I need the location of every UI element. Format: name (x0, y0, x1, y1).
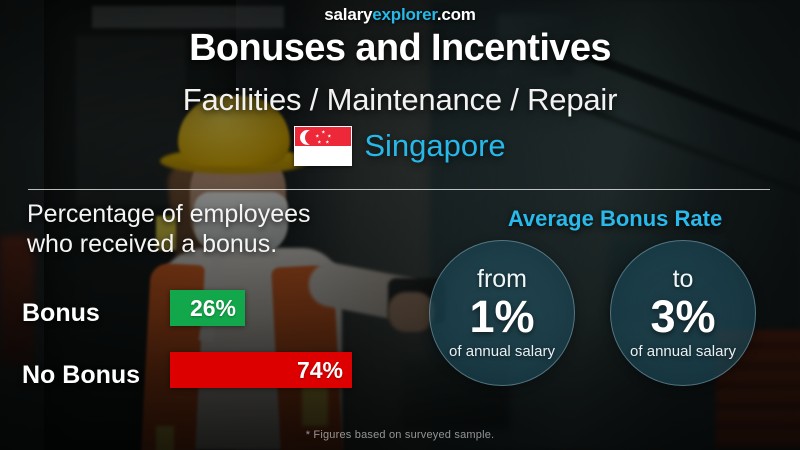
flag-crescent-icon (300, 130, 315, 145)
logo-text-com: .com (437, 5, 476, 24)
bonus-rate-to-circle: to 3% of annual salary (610, 240, 756, 386)
header-divider (28, 189, 770, 190)
logo-text-salary: salary (324, 5, 372, 24)
bar-value-no-bonus: 74% (297, 357, 343, 384)
page-title: Bonuses and Incentives (0, 27, 800, 70)
average-bonus-rate-title: Average Bonus Rate (455, 206, 775, 232)
logo-text-explorer: explorer (372, 5, 437, 24)
bonus-bar-chart: Bonus 26% No Bonus 74% (0, 285, 420, 409)
bonus-rate-to-value: 3% (650, 294, 715, 340)
footnote: * Figures based on surveyed sample. (0, 429, 800, 441)
bar-row-bonus: Bonus 26% (0, 285, 420, 347)
site-logo[interactable]: salaryexplorer.com (0, 5, 800, 25)
singapore-flag-icon (294, 126, 352, 166)
country-row: Singapore (0, 126, 800, 166)
bar-bonus: 26% (170, 290, 245, 326)
bonus-rate-from-circle: from 1% of annual salary (429, 240, 575, 386)
bonus-rate-from-value: 1% (469, 294, 534, 340)
bonus-rate-to-prefix: to (673, 267, 694, 292)
foreground-content: salaryexplorer.com Bonuses and Incentive… (0, 0, 800, 450)
bar-no-bonus: 74% (170, 352, 352, 388)
bonus-rate-from-suffix: of annual salary (449, 344, 555, 359)
chart-caption-line-2: who received a bonus. (27, 230, 447, 260)
bonus-rate-to-suffix: of annual salary (630, 344, 736, 359)
chart-caption-line-1: Percentage of employees (27, 200, 447, 230)
flag-white-band (295, 146, 351, 165)
page-subtitle: Facilities / Maintenance / Repair (0, 82, 800, 118)
bar-row-no-bonus: No Bonus 74% (0, 347, 420, 409)
bar-value-bonus: 26% (190, 295, 236, 322)
flag-stars-icon (315, 130, 335, 146)
chart-caption: Percentage of employees who received a b… (27, 200, 447, 259)
country-name: Singapore (364, 128, 505, 164)
bar-label-no-bonus: No Bonus (22, 361, 140, 390)
bar-label-bonus: Bonus (22, 299, 100, 328)
bonus-rate-from-prefix: from (477, 267, 527, 292)
infographic-poster: salaryexplorer.com Bonuses and Incentive… (0, 0, 800, 450)
